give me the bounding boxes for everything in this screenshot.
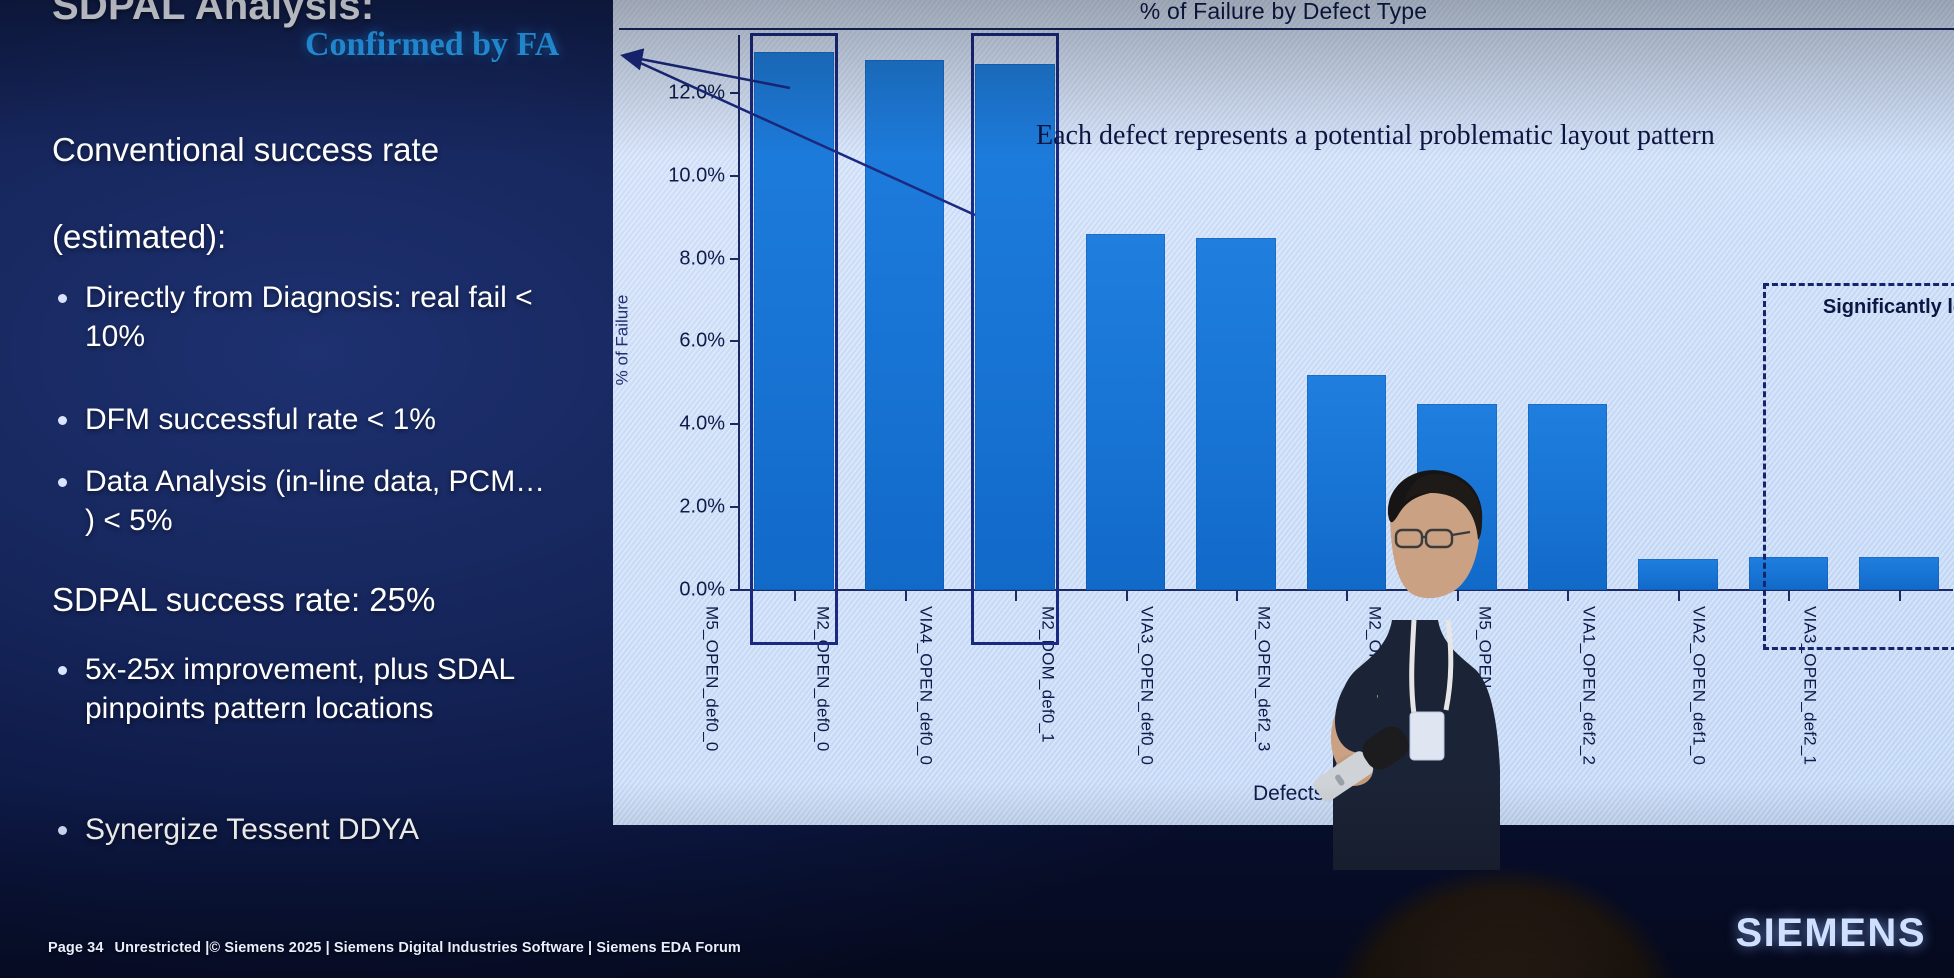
- chart-bar-cell: M5_OPEN_def0_0: [739, 35, 849, 590]
- list-item: Data Analysis (in-line data, PCM… ) < 5%: [58, 462, 558, 540]
- chart-y-axis-label: % of Failure: [613, 295, 632, 386]
- bullet-dot-icon: [58, 826, 67, 835]
- footer-legal-text: Unrestricted |© Siemens 2025 | Siemens D…: [115, 940, 741, 956]
- list-item: Directly from Diagnosis: real fail < 10%: [58, 278, 558, 356]
- discarded-region-label: Significantly lower, discarded: [1776, 296, 1954, 319]
- list-item: 5x-25x improvement, plus SDAL pinpoints …: [58, 650, 558, 728]
- chart-y-tick-mark: [730, 175, 739, 177]
- chart-x-tick-label: M2_OPEN_def0_0: [812, 606, 832, 752]
- chart-bar-cell: M2_OPEN_def0_0: [849, 35, 959, 590]
- footer-page-number: Page 34: [48, 940, 104, 956]
- chart-bar-cell: M2_DOM_def0_1: [1070, 35, 1180, 590]
- chart-y-tick-label: 10.0%: [668, 164, 739, 187]
- chart-bar: [865, 60, 945, 590]
- chart-y-tick-mark: [730, 340, 739, 342]
- discarded-region-box: [1763, 283, 1954, 650]
- chart-x-tick-label: M5_OPEN_def0_0: [701, 606, 721, 752]
- bullet-dot-icon: [58, 666, 67, 675]
- chart-x-tick-label: VIA3_OPEN_def0_0: [1136, 606, 1156, 765]
- bullet-dot-icon: [58, 294, 67, 303]
- siemens-logo: SIEMENS: [1735, 911, 1926, 956]
- chart-x-tick-mark: [1015, 590, 1017, 601]
- chart-x-tick-mark: [1236, 590, 1238, 601]
- microphone-icon: [1286, 700, 1446, 820]
- chart-x-tick-mark: [905, 590, 907, 601]
- list-item: DFM successful rate < 1%: [58, 400, 558, 439]
- chart-title-divider: [619, 28, 1954, 30]
- chart-bar-cell: VIA1_OPEN_def2_2: [1623, 35, 1733, 590]
- chart-y-tick-mark: [730, 258, 739, 260]
- chart-x-tick-label: M2_DOM_def0_1: [1037, 606, 1057, 743]
- chart-y-tick-mark: [730, 589, 739, 591]
- chart-x-tick-mark: [794, 590, 796, 601]
- list-item-label: Directly from Diagnosis: real fail < 10%: [85, 278, 558, 356]
- paragraph-conventional-success-rate: Conventional success rate: [52, 128, 572, 172]
- chart-bar: [1086, 234, 1166, 590]
- bullet-dot-icon: [58, 478, 67, 487]
- confirmed-by-fa-badge: Confirmed by FA: [305, 26, 559, 64]
- chart-x-tick-mark: [1678, 590, 1680, 601]
- chart-y-tick-mark: [730, 506, 739, 508]
- list-item: Synergize Tessent DDYA: [58, 810, 558, 849]
- chart-title: % of Failure by Defect Type: [613, 0, 1954, 25]
- footer: Page 34 Unrestricted |© Siemens 2025 | S…: [48, 940, 741, 956]
- projected-chart-panel: % of Failure by Defect Type % of Failure…: [613, 0, 1954, 825]
- chart-bar-cell: VIA3_OPEN_def0_0: [1181, 35, 1291, 590]
- chart-x-tick-label: VIA4_OPEN_def0_0: [916, 606, 936, 765]
- list-item-label: Data Analysis (in-line data, PCM… ) < 5%: [85, 462, 558, 540]
- chart-x-tick-label: VIA1_OPEN_def2_2: [1578, 606, 1598, 765]
- list-item-label: DFM successful rate < 1%: [85, 400, 436, 439]
- chart-annotation-text: Each defect represents a potential probl…: [1036, 120, 1715, 152]
- chart-bar: [1638, 559, 1718, 590]
- list-item-label: 5x-25x improvement, plus SDAL pinpoints …: [85, 650, 558, 728]
- chart-x-tick-mark: [1126, 590, 1128, 601]
- chart-y-tick-mark: [730, 423, 739, 425]
- page-title: SDPAL Analysis:: [52, 0, 597, 26]
- chart-bar: [1196, 238, 1276, 590]
- list-item-label: Synergize Tessent DDYA: [85, 810, 419, 849]
- bullet-dot-icon: [58, 416, 67, 425]
- chart-bar: [754, 52, 834, 590]
- chart-y-tick-mark: [730, 92, 739, 94]
- slide-text-column: SDPAL Analysis: Confirmed by FA Conventi…: [0, 0, 615, 860]
- paragraph-estimated: (estimated):: [52, 215, 572, 259]
- chart-x-tick-label: VIA2_OPEN_def1_0: [1689, 606, 1709, 765]
- chart-y-tick-label: 12.0%: [668, 81, 739, 104]
- chart-bar-cell: VIA4_OPEN_def0_0: [960, 35, 1070, 590]
- chart-x-tick-label: M2_OPEN_def2_3: [1254, 606, 1274, 752]
- paragraph-sdpal-success-rate: SDPAL success rate: 25%: [52, 578, 592, 622]
